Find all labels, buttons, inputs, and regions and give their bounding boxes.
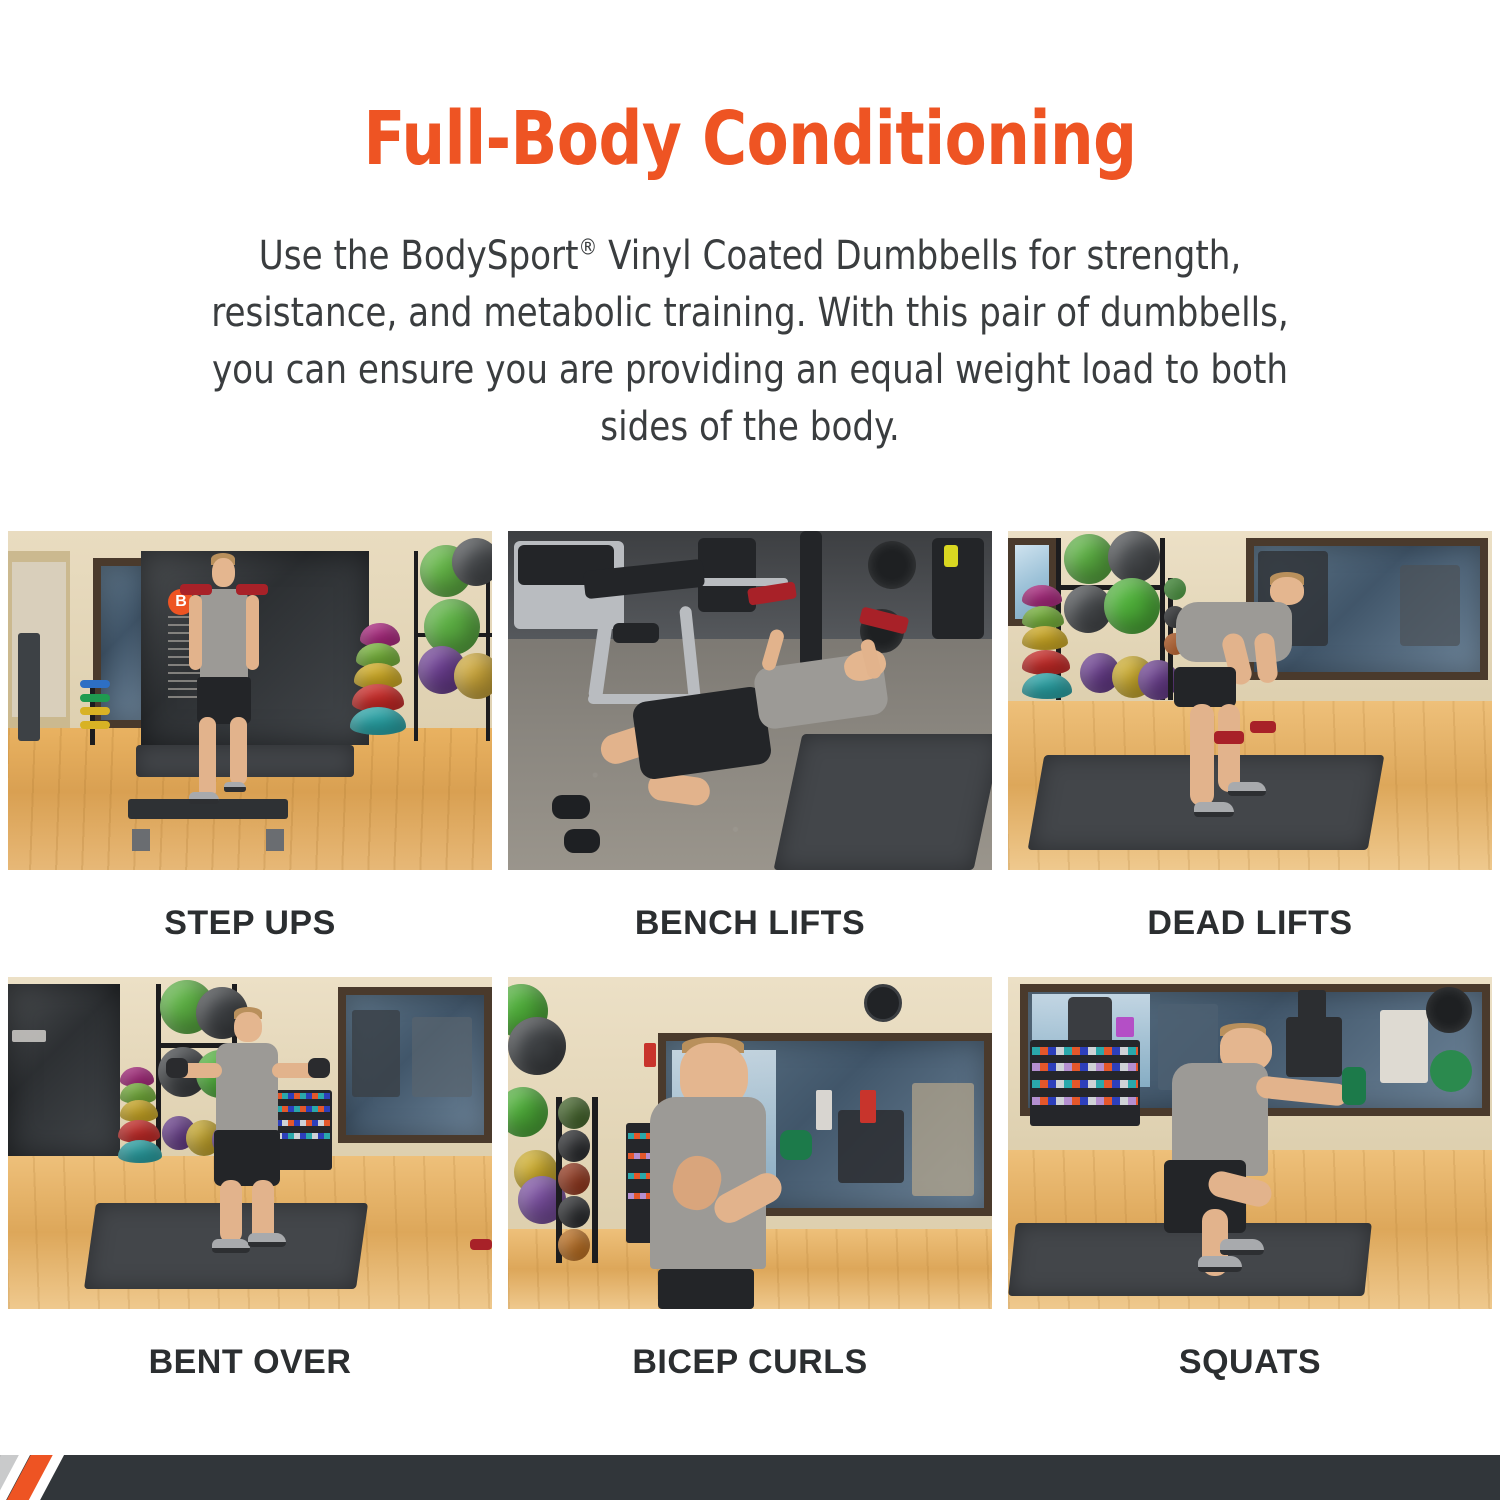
exercise-card-bicep-curls: BICEP CURLS [508, 977, 992, 1416]
exercise-photo-step-ups: B [8, 531, 492, 870]
page-title: Full-Body Conditioning [60, 96, 1440, 182]
exercise-card-dead-lifts: DEAD LIFTS [1008, 531, 1492, 977]
exercise-card-bent-over: BENT OVER [8, 977, 492, 1416]
marketing-page: Full-Body Conditioning Use the BodySport… [0, 0, 1500, 1500]
registered-trademark-icon: ® [579, 236, 598, 261]
exercise-caption-dead-lifts: DEAD LIFTS [1008, 870, 1492, 977]
exercise-photo-bent-over [8, 977, 492, 1309]
intro-prefix: Use the BodySport [259, 233, 579, 279]
exercise-caption-bicep-curls: BICEP CURLS [508, 1309, 992, 1416]
exercise-grid: B [8, 531, 1492, 1416]
exercise-photo-bicep-curls [508, 977, 992, 1309]
exercise-caption-step-ups: STEP UPS [8, 870, 492, 977]
exercise-caption-squats: SQUATS [1008, 1309, 1492, 1416]
exercise-card-step-ups: B [8, 531, 492, 977]
exercise-photo-squats [1008, 977, 1492, 1309]
exercise-card-bench-lifts: BENCH LIFTS [508, 531, 992, 977]
exercise-caption-bent-over: BENT OVER [8, 1309, 492, 1416]
exercise-photo-dead-lifts [1008, 531, 1492, 870]
exercise-photo-bench-lifts [508, 531, 992, 870]
footer-bar [0, 1455, 1500, 1500]
exercise-card-squats: SQUATS [1008, 977, 1492, 1416]
intro-paragraph: Use the BodySport® Vinyl Coated Dumbbell… [180, 228, 1320, 456]
exercise-caption-bench-lifts: BENCH LIFTS [508, 870, 992, 977]
